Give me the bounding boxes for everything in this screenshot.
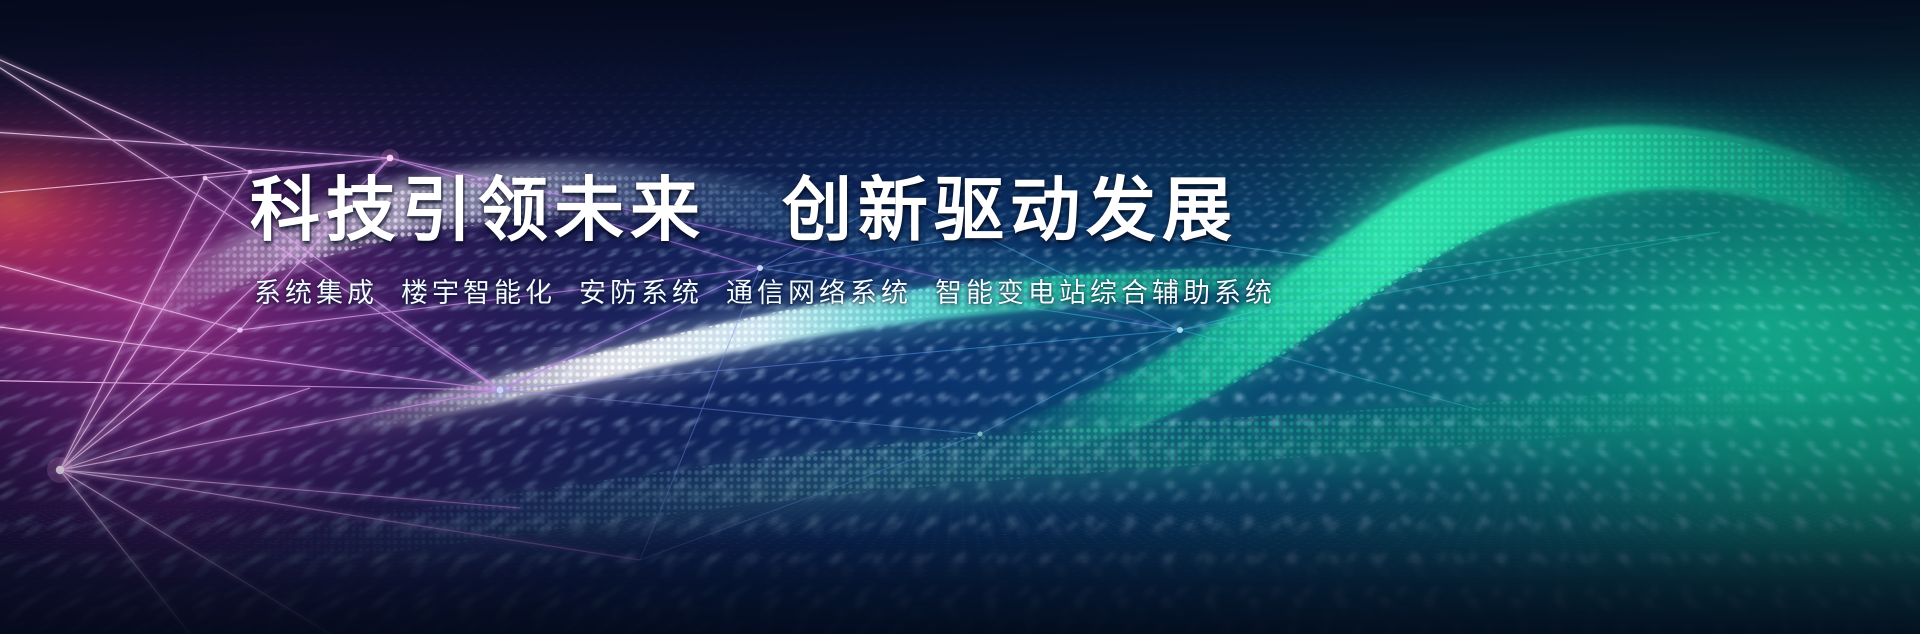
bottom-vignette: [0, 0, 1920, 634]
banner-headline: 科技引领未来 创新驱动发展: [250, 175, 1670, 245]
banner-copy: 科技引领未来 创新驱动发展 系统集成 楼宇智能化 安防系统 通信网络系统 智能变…: [250, 175, 1670, 310]
banner-subheadline: 系统集成 楼宇智能化 安防系统 通信网络系统 智能变电站综合辅助系统: [254, 271, 1670, 310]
tech-banner: 科技引领未来 创新驱动发展 系统集成 楼宇智能化 安防系统 通信网络系统 智能变…: [0, 0, 1920, 634]
